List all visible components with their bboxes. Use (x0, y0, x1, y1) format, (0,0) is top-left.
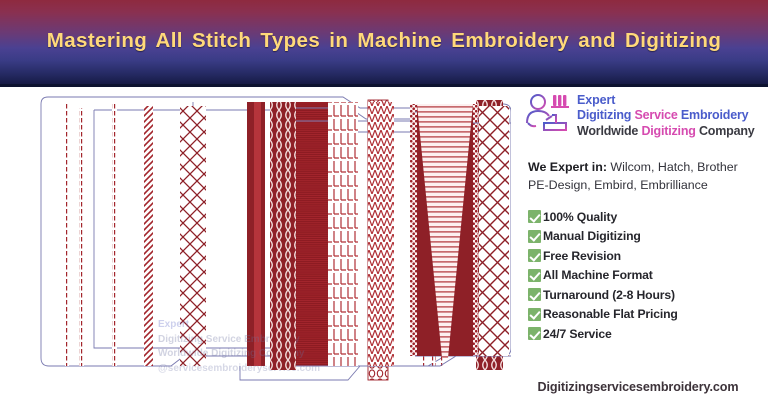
brand-word-digitizing: Digitizing (577, 108, 631, 122)
list-item: All Machine Format (528, 268, 764, 282)
check-icon (528, 327, 541, 340)
header-divider (0, 84, 768, 87)
brand-word-service: Service (635, 108, 678, 122)
brand-word-embroidery: Embroidery (681, 108, 748, 122)
page-header: Mastering All Stitch Types in Machine Em… (0, 0, 768, 86)
list-item: Free Revision (528, 249, 764, 263)
feature-label: 24/7 Service (543, 327, 612, 341)
brand-word-worldwide: Worldwide (577, 124, 638, 138)
embroidery-machine-operator-icon (522, 93, 570, 139)
brand-line-2: Digitizing Service Embroidery (577, 108, 755, 123)
check-icon (528, 308, 541, 321)
brand-line-1: Expert (577, 93, 755, 108)
info-panel: Expert Digitizing Service Embroidery Wor… (512, 92, 764, 402)
check-icon (528, 269, 541, 282)
expertise-statement: We Expert in: Wilcom, Hatch, Brother PE-… (528, 159, 752, 195)
brand-logo[interactable]: Expert Digitizing Service Embroidery Wor… (522, 92, 764, 139)
check-icon (528, 249, 541, 262)
page-title: Mastering All Stitch Types in Machine Em… (47, 25, 722, 57)
feature-label: 100% Quality (543, 210, 617, 224)
feature-label: Turnaround (2-8 Hours) (543, 288, 675, 302)
feature-list: 100% Quality Manual Digitizing Free Revi… (528, 210, 764, 341)
list-item: Manual Digitizing (528, 229, 764, 243)
check-icon (528, 210, 541, 223)
list-item: 24/7 Service (528, 327, 764, 341)
check-icon (528, 230, 541, 243)
expertise-label: We Expert in: (528, 160, 607, 174)
promo-banner: Mastering All Stitch Types in Machine Em… (0, 0, 768, 403)
feature-label: Reasonable Flat Pricing (543, 307, 678, 321)
feature-label: All Machine Format (543, 268, 653, 282)
feature-label: Free Revision (543, 249, 621, 263)
stitch-chart-svg-far-right (415, 90, 511, 398)
check-icon (528, 288, 541, 301)
brand-word-digitizing-2: Digitizing (641, 124, 695, 138)
feature-label: Manual Digitizing (543, 229, 641, 243)
list-item: Reasonable Flat Pricing (528, 307, 764, 321)
website-url[interactable]: Digitizingservicesembroidery.com (512, 380, 764, 394)
brand-word-company: Company (699, 124, 755, 138)
list-item: Turnaround (2-8 Hours) (528, 288, 764, 302)
list-item: 100% Quality (528, 210, 764, 224)
brand-line-3: Worldwide Digitizing Company (577, 124, 755, 140)
brand-logo-text: Expert Digitizing Service Embroidery Wor… (577, 92, 755, 139)
